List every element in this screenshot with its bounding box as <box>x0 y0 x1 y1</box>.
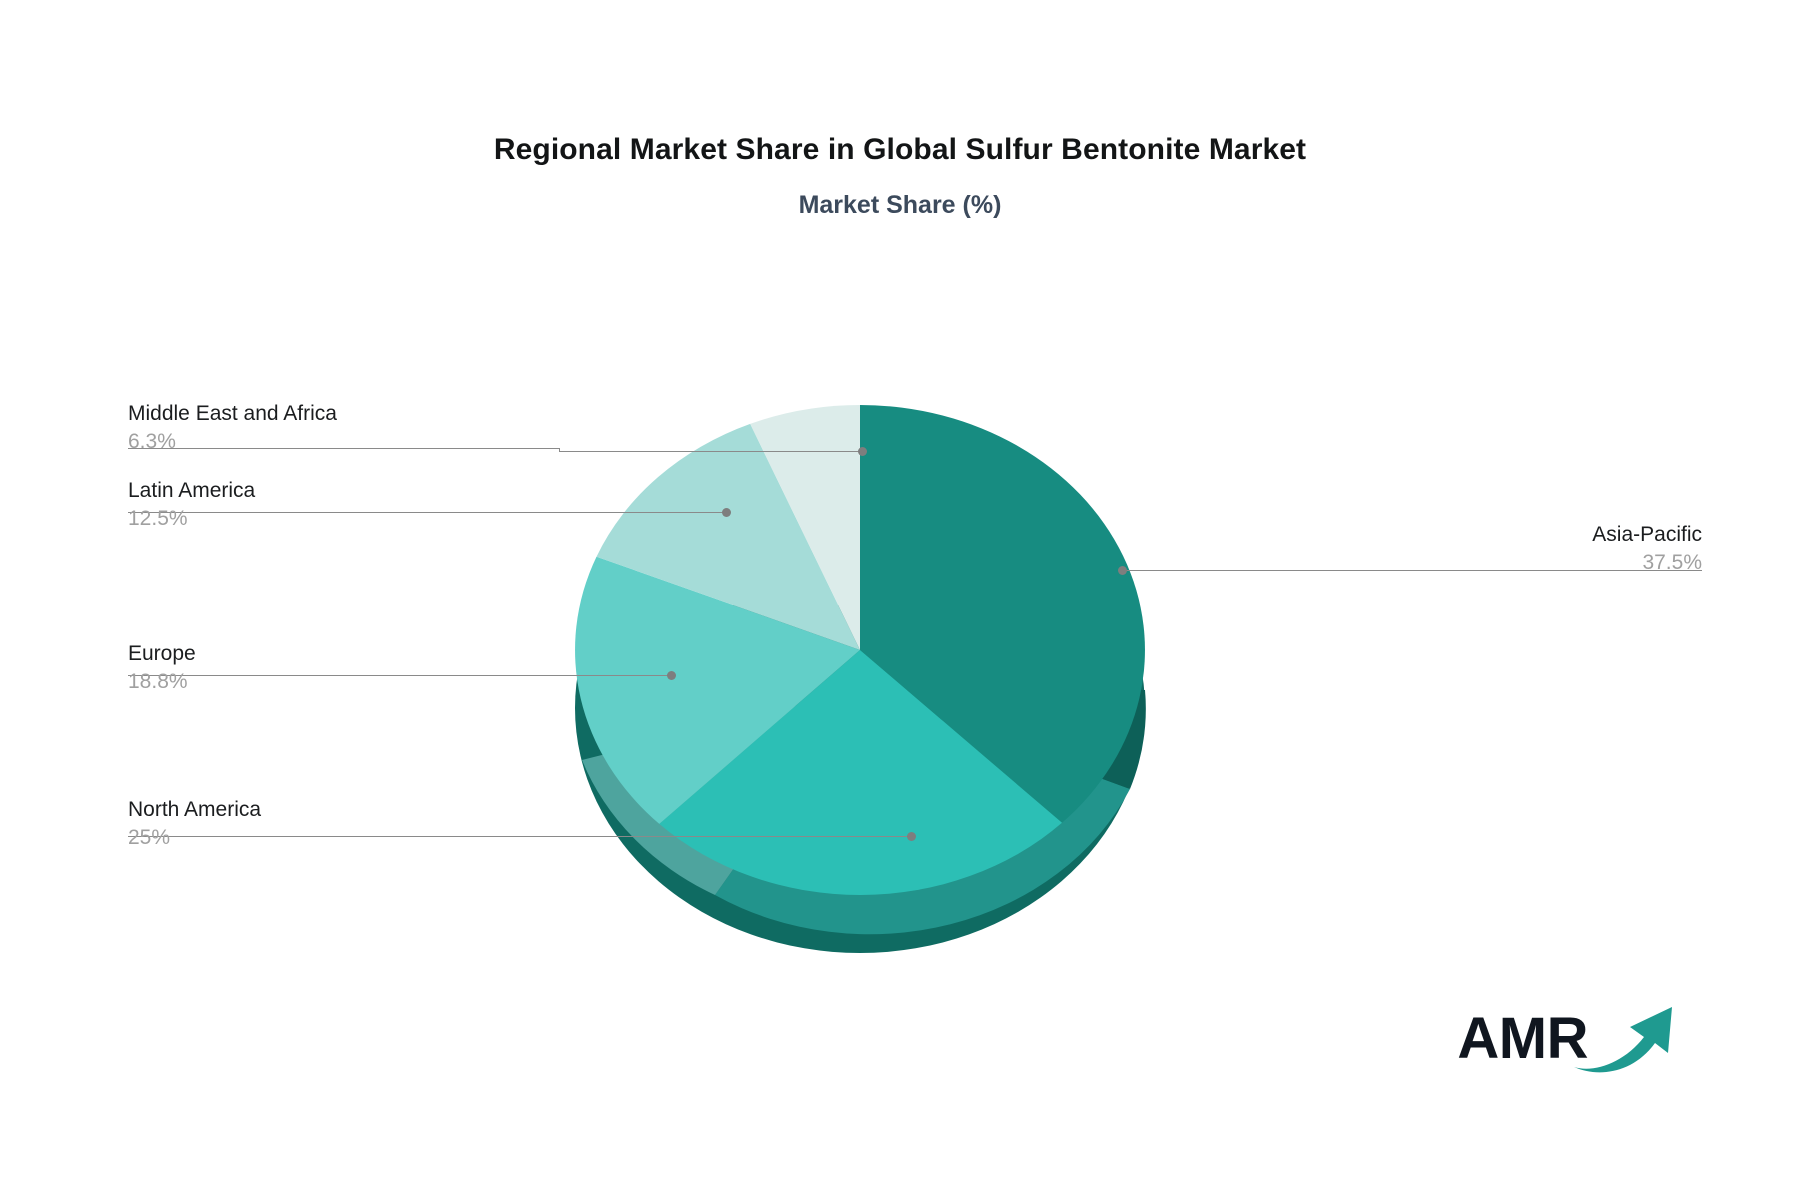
callout-asia-pacific: Asia-Pacific 37.5% <box>1402 521 1702 578</box>
callout-europe: Europe 18.8% <box>128 640 428 697</box>
leader-dot-europe <box>667 671 676 680</box>
leader-dot-middle-east-and-africa <box>858 447 867 456</box>
leader-dot-latin-america <box>722 508 731 517</box>
callout-value-north-america: 25% <box>128 824 428 852</box>
callout-label-europe: Europe <box>128 640 428 668</box>
callout-value-europe: 18.8% <box>128 668 428 696</box>
callout-label-asia-pacific: Asia-Pacific <box>1402 521 1702 549</box>
callout-middle-east-and-africa: Middle East and Africa 6.3% <box>128 400 428 457</box>
callout-north-america: North America 25% <box>128 796 428 853</box>
chart-subtitle: Market Share (%) <box>0 190 1800 220</box>
page-title: Regional Market Share in Global Sulfur B… <box>0 132 1800 168</box>
callout-value-asia-pacific: 37.5% <box>1402 549 1702 577</box>
leader-line-middle-east-and-africa-vertical <box>559 448 560 452</box>
amr-logo: AMR <box>1457 1004 1682 1074</box>
callout-label-latin-america: Latin America <box>128 477 428 505</box>
callout-latin-america: Latin America 12.5% <box>128 477 428 534</box>
callout-value-latin-america: 12.5% <box>128 505 428 533</box>
growth-arrow-icon <box>1572 997 1682 1075</box>
callout-label-middle-east-and-africa: Middle East and Africa <box>128 400 428 428</box>
pie-chart-svg <box>570 360 1270 980</box>
leader-dot-north-america <box>907 832 916 841</box>
callout-label-north-america: North America <box>128 796 428 824</box>
amr-logo-text: AMR <box>1457 1010 1588 1068</box>
callout-value-middle-east-and-africa: 6.3% <box>128 428 428 456</box>
pie-slices <box>575 405 1145 895</box>
leader-dot-asia-pacific <box>1118 566 1127 575</box>
pie-chart <box>570 360 1270 980</box>
